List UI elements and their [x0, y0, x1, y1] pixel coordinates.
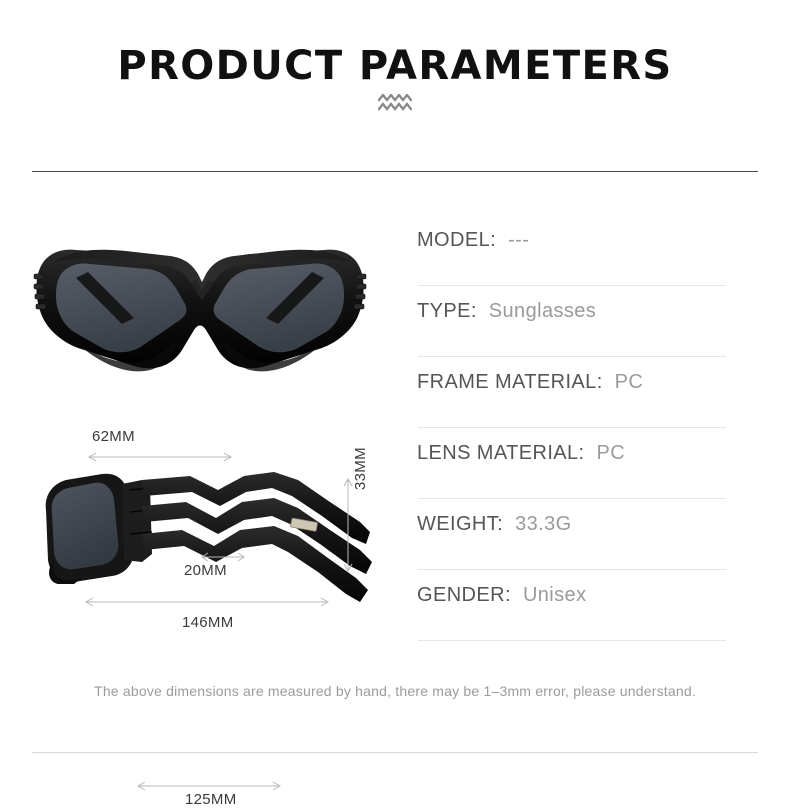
- spec-divider: [418, 640, 726, 641]
- dimension-arrow-temple-length: [134, 781, 284, 791]
- spec-label-gender: GENDER:: [417, 584, 511, 607]
- spec-label-lens-material: LENS MATERIAL:: [417, 442, 585, 465]
- spec-value-frame-material: PC: [615, 371, 644, 394]
- spec-value-model: ---: [508, 229, 529, 252]
- zigzag-wave-ornament: [0, 94, 790, 112]
- page-header: PRODUCT PARAMETERS: [0, 0, 790, 150]
- footer-disclaimer: The above dimensions are measured by han…: [0, 683, 790, 699]
- spec-row-weight: WEIGHT: 33.3G: [417, 499, 727, 570]
- spec-label-frame-material: FRAME MATERIAL:: [417, 371, 603, 394]
- spec-value-lens-material: PC: [597, 442, 626, 465]
- spec-row-lens-material: LENS MATERIAL: PC: [417, 428, 727, 499]
- spec-label-weight: WEIGHT:: [417, 513, 503, 536]
- dimension-label-temple-length: 125MM: [185, 791, 237, 808]
- spec-value-gender: Unisex: [523, 584, 587, 607]
- dimension-label-total-width: 146MM: [182, 614, 234, 631]
- specification-list: MODEL: --- TYPE: Sunglasses FRAME MATERI…: [417, 215, 727, 641]
- dimension-arrow-bridge-width: [198, 552, 248, 562]
- product-illustration-column: 62MM 20MM 146MM 33MM 125MM: [30, 190, 380, 660]
- product-parameters-page: PRODUCT PARAMETERS: [0, 0, 790, 779]
- spec-row-gender: GENDER: Unisex: [417, 570, 727, 641]
- dimension-arrow-lens-width: [85, 452, 235, 462]
- dimension-label-bridge-width: 20MM: [184, 562, 227, 579]
- spec-row-frame-material: FRAME MATERIAL: PC: [417, 357, 727, 428]
- spec-row-type: TYPE: Sunglasses: [417, 286, 727, 357]
- sunglasses-front-view: [30, 220, 380, 435]
- spec-value-weight: 33.3G: [515, 513, 571, 536]
- page-title: PRODUCT PARAMETERS: [0, 44, 790, 88]
- spec-label-type: TYPE:: [417, 300, 477, 323]
- spec-value-type: Sunglasses: [489, 300, 596, 323]
- content-area: 62MM 20MM 146MM 33MM 125MM MODEL: --- TY…: [0, 190, 790, 670]
- dimension-label-lens-width: 62MM: [92, 428, 135, 445]
- spec-row-model: MODEL: ---: [417, 215, 727, 286]
- footer-divider: [32, 752, 758, 753]
- header-divider: [32, 171, 758, 172]
- spec-label-model: MODEL:: [417, 229, 496, 252]
- dimension-label-lens-height: 33MM: [352, 447, 369, 490]
- dimension-arrow-lens-height: [343, 475, 353, 575]
- dimension-arrow-total-width: [82, 597, 332, 607]
